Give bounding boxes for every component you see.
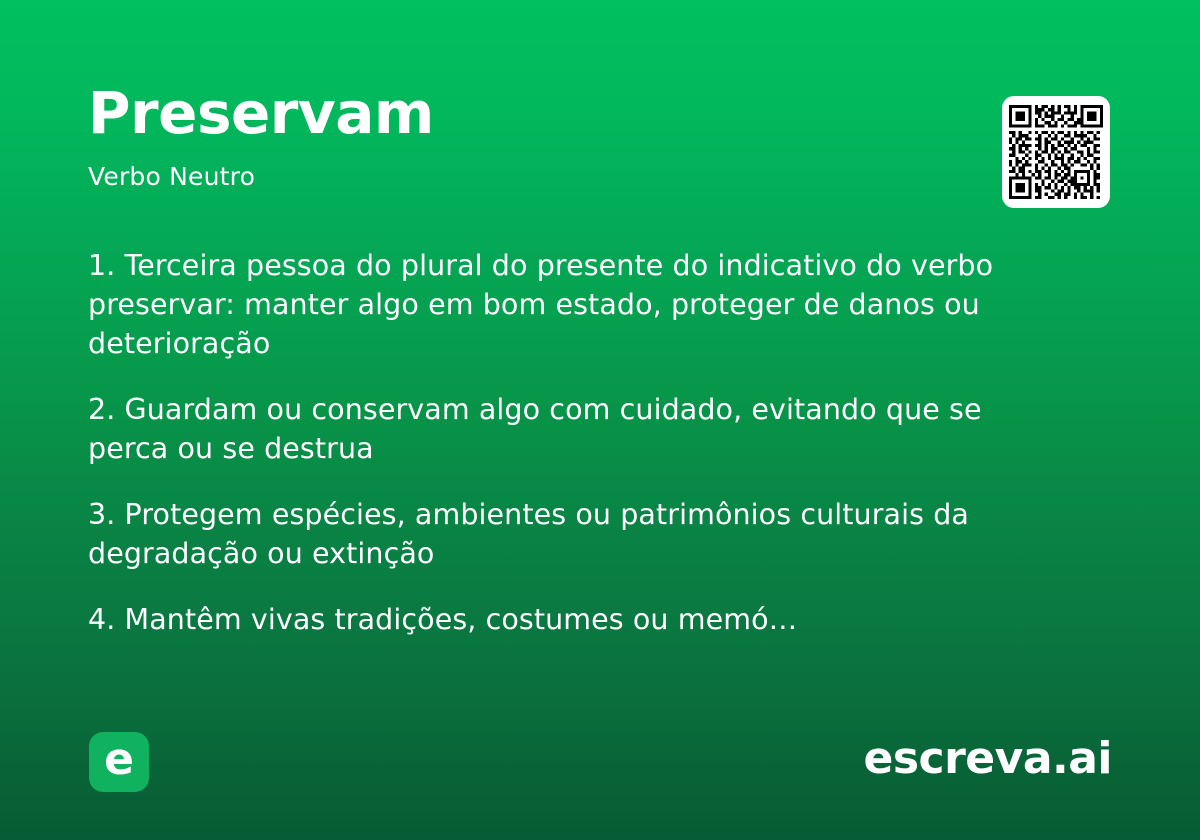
word-class-subtitle: Verbo Neutro [88, 142, 1112, 189]
logo-letter: e [104, 738, 134, 782]
definition-item: 1. Terceira pessoa do plural do presente… [88, 246, 1068, 363]
qr-code-icon [1009, 105, 1103, 199]
escreva-logo-icon: e [89, 732, 149, 792]
definition-item: 2. Guardam ou conservam algo com cuidado… [88, 390, 1068, 468]
definition-item: 3. Protegem espécies, ambientes ou patri… [88, 495, 1068, 573]
definition-item: 4. Mantêm vivas tradições, costumes ou m… [88, 600, 1068, 639]
page-title: Preservam [88, 84, 1112, 142]
card-header: Preservam Verbo Neutro [88, 84, 1112, 214]
brand-wordmark: escreva.ai [863, 730, 1112, 787]
definition-card: Preservam Verbo Neutro [0, 0, 1200, 840]
definitions-list: 1. Terceira pessoa do plural do presente… [88, 246, 1068, 639]
qr-code-panel[interactable] [1002, 96, 1110, 208]
card-footer: e escreva.ai [0, 710, 1200, 840]
